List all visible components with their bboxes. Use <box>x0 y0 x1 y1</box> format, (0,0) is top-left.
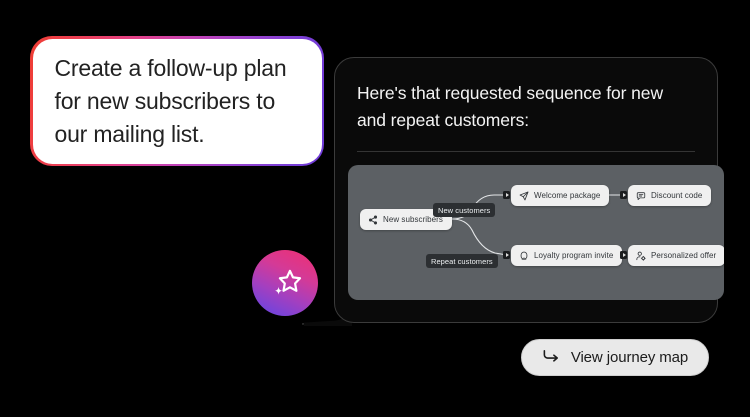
user-prompt-bubble-inner: Create a follow-up plan for new subscrib… <box>33 39 322 164</box>
flow-node-personalized-offer[interactable]: Personalized offer <box>628 245 724 266</box>
flow-port-welcome-package[interactable] <box>503 191 510 199</box>
flow-node-discount-code[interactable]: Discount code <box>628 185 711 206</box>
user-settings-icon <box>636 251 646 261</box>
journey-flowchart-canvas[interactable]: New subscribers Welcome package Discount… <box>348 165 724 300</box>
flow-node-label: Personalized offer <box>651 252 716 260</box>
flow-edge-label-text: Repeat customers <box>431 257 493 266</box>
assistant-heading-text: Here's that requested sequence for new a… <box>357 80 695 134</box>
award-badge-icon <box>519 251 529 261</box>
flow-edge-label-text: New customers <box>438 206 490 215</box>
user-prompt-bubble: Create a follow-up plan for new subscrib… <box>30 36 324 166</box>
ai-assistant-avatar[interactable] <box>252 250 318 316</box>
flow-node-label: Discount code <box>651 192 702 200</box>
assistant-header: Here's that requested sequence for new a… <box>335 58 717 152</box>
assistant-divider <box>357 151 695 152</box>
flow-node-label: Welcome package <box>534 192 600 200</box>
share-network-icon <box>368 215 378 225</box>
flow-edge-label-new-customers[interactable]: New customers <box>433 203 495 217</box>
user-prompt-text: Create a follow-up plan for new subscrib… <box>55 52 302 151</box>
chat-bubble-icon <box>636 191 646 201</box>
view-journey-map-button[interactable]: View journey map <box>521 339 709 376</box>
flow-port-discount-code[interactable] <box>620 191 627 199</box>
flow-port-loyalty-program-invite[interactable] <box>503 251 510 259</box>
flow-node-label: Loyalty program invite <box>534 252 613 260</box>
flow-node-loyalty-program-invite[interactable]: Loyalty program invite <box>511 245 622 266</box>
view-journey-map-label: View journey map <box>571 349 688 366</box>
flow-node-welcome-package[interactable]: Welcome package <box>511 185 609 206</box>
ai-sparkle-icon <box>266 264 304 302</box>
flow-port-personalized-offer[interactable] <box>620 251 627 259</box>
paper-plane-icon <box>519 191 529 201</box>
flow-edge-label-repeat-customers[interactable]: Repeat customers <box>426 254 498 268</box>
arrow-turn-right-icon <box>542 346 561 370</box>
